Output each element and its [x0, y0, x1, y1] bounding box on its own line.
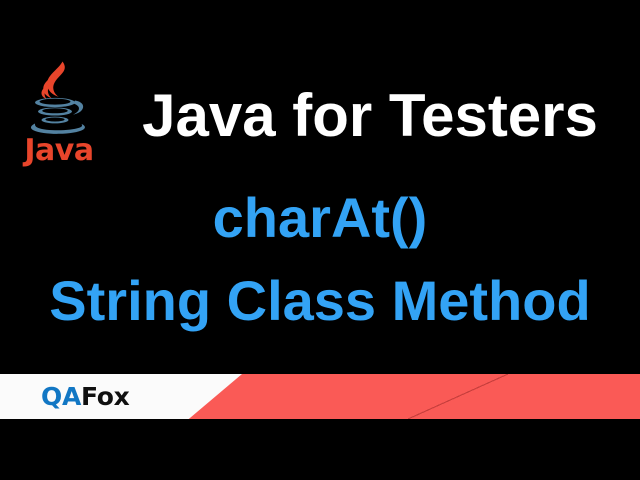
video-title-slide: Java Java for Testers charAt() String Cl… [0, 0, 640, 480]
qafox-logo-suffix: Fox [81, 374, 129, 419]
qafox-logo: QAFox [41, 374, 129, 419]
brand-bar: QAFox [0, 374, 640, 419]
qafox-logo-prefix: QA [41, 374, 81, 419]
java-coffee-cup-icon [18, 57, 100, 139]
java-wordmark: Java [18, 133, 100, 169]
java-logo: Java [18, 57, 100, 170]
page-title: Java for Testers [112, 80, 628, 152]
brand-bar-accent-seam [408, 374, 508, 419]
subtitle-method-name: charAt() [0, 183, 640, 253]
subtitle-method-category: String Class Method [0, 266, 640, 336]
